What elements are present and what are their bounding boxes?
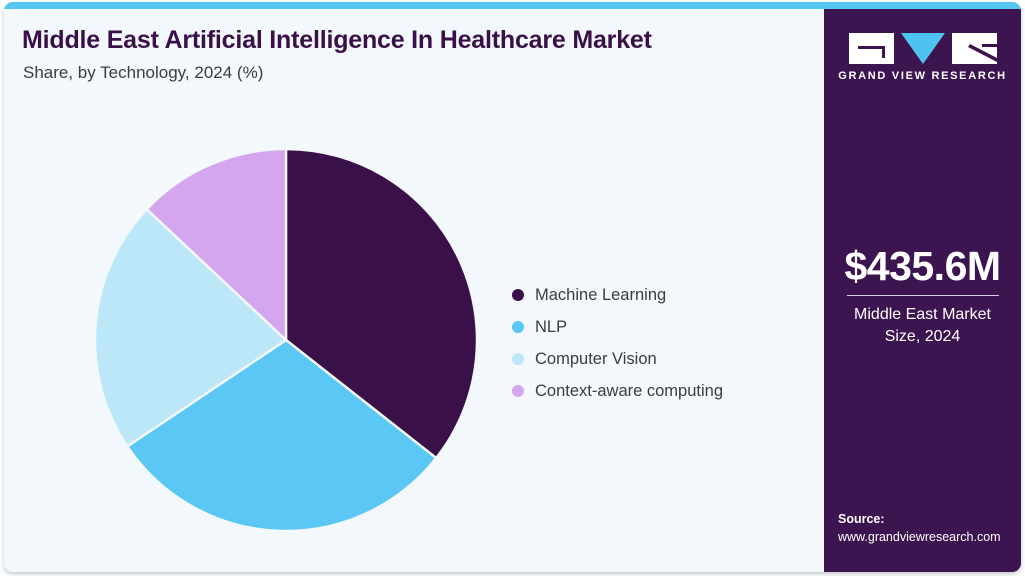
source-url[interactable]: www.grandviewresearch.com bbox=[838, 528, 1013, 546]
pie-chart-svg bbox=[95, 149, 477, 531]
page-title: Middle East Artificial Intelligence In H… bbox=[22, 26, 652, 55]
market-size-block: $435.6M Middle East Market Size, 2024 bbox=[824, 245, 1021, 347]
legend-swatch-icon bbox=[512, 321, 524, 333]
legend-label: Computer Vision bbox=[535, 350, 657, 369]
chart-legend: Machine LearningNLPComputer VisionContex… bbox=[512, 279, 723, 407]
legend-item[interactable]: Computer Vision bbox=[512, 343, 723, 375]
legend-swatch-icon bbox=[512, 289, 524, 301]
legend-item[interactable]: NLP bbox=[512, 311, 723, 343]
gvr-logo-icon bbox=[849, 33, 997, 65]
logo-wordmark: GRAND VIEW RESEARCH bbox=[824, 70, 1021, 82]
pie-chart bbox=[95, 149, 477, 531]
top-accent-bar bbox=[4, 2, 1021, 9]
legend-swatch-icon bbox=[512, 385, 524, 397]
legend-label: Context-aware computing bbox=[535, 382, 723, 401]
chart-main-area: Middle East Artificial Intelligence In H… bbox=[4, 9, 824, 572]
legend-label: Machine Learning bbox=[535, 286, 666, 305]
legend-swatch-icon bbox=[512, 353, 524, 365]
legend-item[interactable]: Context-aware computing bbox=[512, 375, 723, 407]
divider bbox=[847, 295, 999, 296]
market-size-caption-line2: Size, 2024 bbox=[824, 326, 1021, 348]
source-label: Source: bbox=[838, 510, 1013, 528]
source-block: Source: www.grandviewresearch.com bbox=[838, 510, 1013, 546]
page-subtitle: Share, by Technology, 2024 (%) bbox=[23, 63, 263, 83]
legend-item[interactable]: Machine Learning bbox=[512, 279, 723, 311]
market-size-value: $435.6M bbox=[824, 245, 1021, 288]
grand-view-research-logo: GRAND VIEW RESEARCH bbox=[824, 33, 1021, 85]
brand-sidebar: GRAND VIEW RESEARCH $435.6M Middle East … bbox=[824, 9, 1021, 572]
legend-label: NLP bbox=[535, 318, 567, 337]
chart-card: Middle East Artificial Intelligence In H… bbox=[4, 2, 1021, 572]
market-size-caption-line1: Middle East Market bbox=[824, 304, 1021, 326]
